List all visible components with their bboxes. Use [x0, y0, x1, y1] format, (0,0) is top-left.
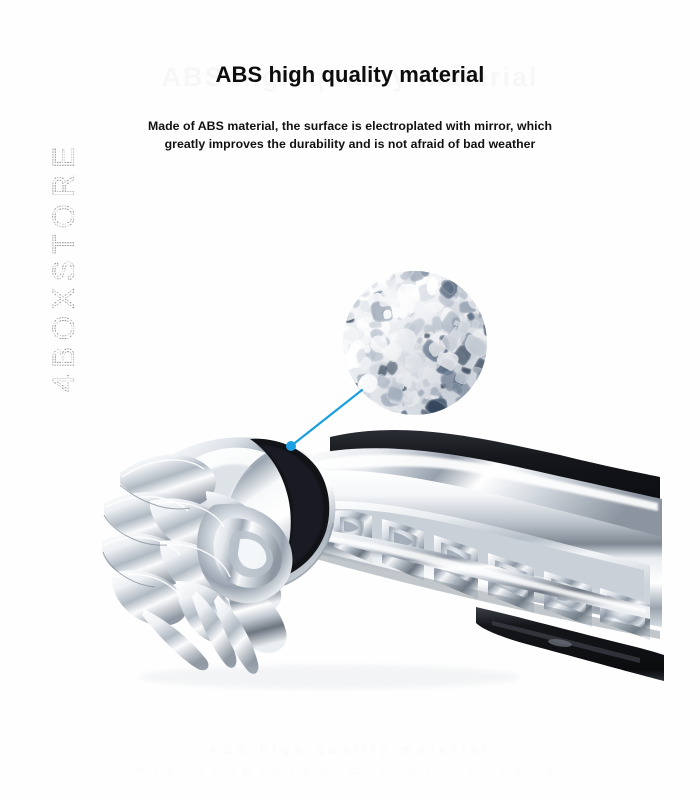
pellet-texture	[343, 271, 487, 415]
watermark-left-text: 4BOXSTORE	[46, 140, 82, 392]
abs-pellet-closeup	[343, 271, 487, 415]
ghost-bottom-text-1: ABS high quality material	[0, 742, 700, 757]
product-shadow	[140, 665, 520, 689]
chrome-led-drl-lamp-illustration	[0, 395, 700, 715]
page-subtitle: Made of ABS material, the surface is ele…	[96, 117, 604, 153]
product-image	[0, 395, 700, 715]
subtitle-line-2: greatly improves the durability and is n…	[165, 137, 536, 151]
ghost-bottom-text-2: electroplated mirror surface	[0, 762, 700, 777]
watermark-left: 4BOXSTORE	[46, 140, 82, 392]
subtitle-line-1: Made of ABS material, the surface is ele…	[148, 119, 552, 133]
product-marketing-banner: ABS high quality material ABS high quali…	[0, 0, 700, 800]
page-title: ABS high quality material	[0, 62, 700, 88]
